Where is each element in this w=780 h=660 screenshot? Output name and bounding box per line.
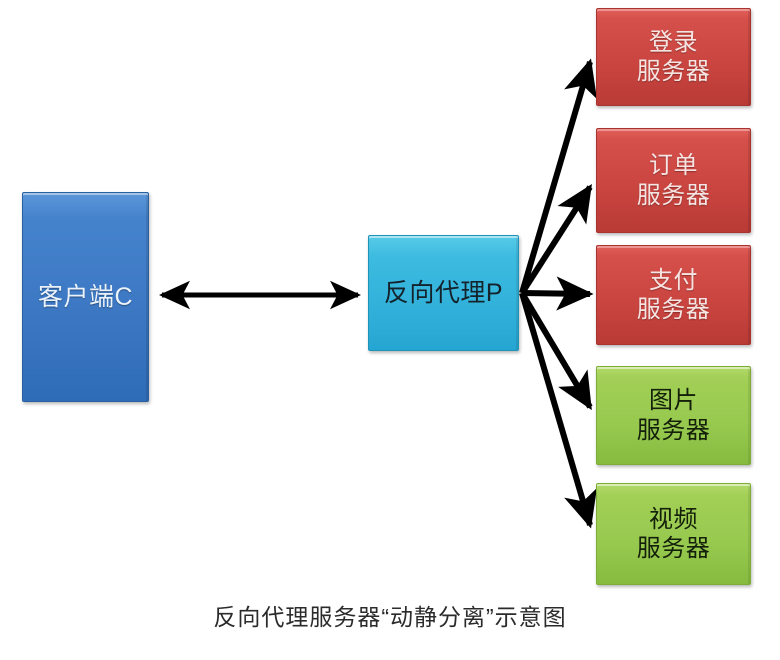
node-service-video-line2: 服务器 bbox=[637, 534, 711, 563]
node-proxy[interactable]: 反向代理P bbox=[368, 235, 519, 351]
diagram-canvas: 客户端C 反向代理P 登录 服务器 订单 服务器 支付 服务器 图片 服务器 视… bbox=[0, 0, 780, 660]
connector-proxy-payment bbox=[522, 293, 590, 294]
diagram-caption: 反向代理服务器“动静分离”示意图 bbox=[0, 598, 780, 632]
connector-proxy-video bbox=[522, 293, 590, 525]
node-service-image-line2: 服务器 bbox=[637, 416, 711, 445]
node-service-video-line1: 视频 bbox=[649, 505, 698, 534]
node-proxy-label: 反向代理P bbox=[384, 278, 503, 309]
node-service-payment-line1: 支付 bbox=[649, 266, 698, 295]
node-service-order-line1: 订单 bbox=[649, 151, 698, 180]
connector-proxy-image bbox=[522, 293, 590, 407]
node-service-order[interactable]: 订单 服务器 bbox=[596, 128, 751, 233]
node-service-login[interactable]: 登录 服务器 bbox=[596, 8, 751, 106]
node-service-payment[interactable]: 支付 服务器 bbox=[596, 245, 751, 345]
node-client[interactable]: 客户端C bbox=[22, 192, 149, 402]
node-service-payment-line2: 服务器 bbox=[637, 295, 711, 324]
node-service-video[interactable]: 视频 服务器 bbox=[596, 483, 751, 585]
node-service-login-line1: 登录 bbox=[649, 28, 698, 57]
node-service-image[interactable]: 图片 服务器 bbox=[596, 366, 751, 465]
node-service-image-line1: 图片 bbox=[649, 386, 698, 415]
connector-proxy-order bbox=[522, 187, 590, 293]
node-client-label: 客户端C bbox=[38, 282, 133, 313]
connector-proxy-login bbox=[522, 62, 590, 293]
node-service-login-line2: 服务器 bbox=[637, 57, 711, 86]
node-service-order-line2: 服务器 bbox=[637, 181, 711, 210]
